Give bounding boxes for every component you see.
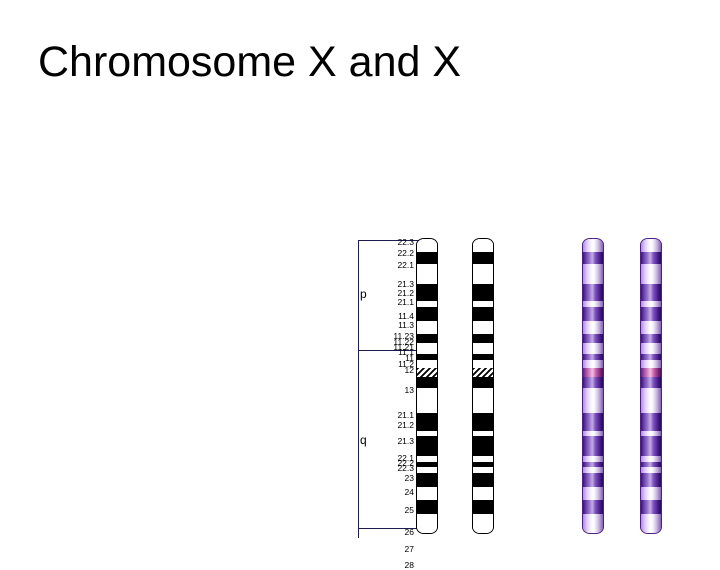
chromosome-band bbox=[583, 473, 603, 487]
chromosome-band bbox=[583, 436, 603, 456]
chromosome-band bbox=[641, 436, 661, 456]
band-label: 21.2 bbox=[397, 421, 414, 430]
band-label: 11.3 bbox=[398, 321, 414, 330]
chromosome-band bbox=[473, 500, 493, 514]
band-label: 22.3 bbox=[397, 238, 414, 247]
chromosome-band bbox=[583, 264, 603, 284]
chromosome-x-1-body bbox=[416, 238, 438, 534]
chromosome-band bbox=[583, 368, 603, 377]
chromosome-band bbox=[641, 252, 661, 264]
chromosome-band bbox=[583, 360, 603, 368]
chromosome-band bbox=[473, 514, 493, 534]
chromosome-band bbox=[417, 307, 437, 321]
chromosome-band bbox=[641, 307, 661, 321]
band-label: 21.3 bbox=[397, 437, 414, 446]
chromosome-band bbox=[583, 487, 603, 500]
band-label: 25 bbox=[405, 506, 414, 515]
band-label: 22.3 bbox=[397, 464, 414, 473]
chromosome-band bbox=[473, 264, 493, 284]
chromosome-band bbox=[473, 377, 493, 389]
chromosome-band bbox=[417, 377, 437, 389]
chromosome-band bbox=[417, 321, 437, 334]
chromosome-band bbox=[417, 473, 437, 487]
chromosome-band bbox=[417, 252, 437, 264]
band-label: 24 bbox=[405, 488, 414, 497]
chromosome-band bbox=[641, 514, 661, 534]
chromosome-band bbox=[473, 334, 493, 343]
band-label: 26 bbox=[405, 528, 414, 537]
band-label: 12 bbox=[405, 366, 414, 375]
chromosome-band bbox=[417, 487, 437, 500]
chromosome-band bbox=[641, 343, 661, 354]
chromosome-band bbox=[583, 514, 603, 534]
chromosome-band bbox=[417, 264, 437, 284]
chromosome-band bbox=[641, 368, 661, 377]
chromosome-band bbox=[417, 388, 437, 413]
chromosome-band bbox=[641, 487, 661, 500]
chromosome-band bbox=[641, 321, 661, 334]
chromosome-band bbox=[417, 334, 437, 343]
band-label-column: 22.322.222.121.321.221.111.411.311.2311.… bbox=[350, 230, 414, 540]
chromosome-band bbox=[641, 360, 661, 368]
band-label: 23 bbox=[405, 474, 414, 483]
chromosome-band bbox=[583, 284, 603, 301]
chromosome-band bbox=[417, 413, 437, 431]
chromosome-band bbox=[473, 252, 493, 264]
chromosome-band bbox=[417, 239, 437, 252]
chromosome-band bbox=[473, 436, 493, 456]
chromosome-x-3[interactable] bbox=[582, 238, 604, 534]
chromosome-band bbox=[417, 514, 437, 534]
band-label: 13 bbox=[405, 386, 414, 395]
chromosome-band bbox=[583, 500, 603, 514]
chromosome-band bbox=[473, 321, 493, 334]
chromosome-band bbox=[641, 377, 661, 389]
chromosome-band bbox=[473, 368, 493, 377]
chromosome-x-4-body bbox=[640, 238, 662, 534]
chromosome-band bbox=[473, 388, 493, 413]
chromosome-band bbox=[473, 487, 493, 500]
chromosome-x-3-body bbox=[582, 238, 604, 534]
karyotype-figure: p q 22.322.222.121.321.221.111.411.311.2… bbox=[350, 230, 696, 540]
chromosome-band bbox=[641, 473, 661, 487]
chromosome-band bbox=[473, 307, 493, 321]
chromosome-band bbox=[641, 334, 661, 343]
band-label: 21.1 bbox=[397, 411, 414, 420]
chromosome-x-1[interactable] bbox=[416, 238, 438, 534]
chromosome-band bbox=[417, 284, 437, 301]
chromosome-band bbox=[583, 307, 603, 321]
chromosome-band bbox=[641, 284, 661, 301]
chromosome-band bbox=[641, 413, 661, 431]
chromosome-band bbox=[417, 436, 437, 456]
chromosome-band bbox=[417, 500, 437, 514]
chromosome-band bbox=[641, 388, 661, 413]
chromosome-band bbox=[583, 388, 603, 413]
chromosome-band bbox=[473, 473, 493, 487]
chromosome-band bbox=[583, 377, 603, 389]
chromosome-x-4[interactable] bbox=[640, 238, 662, 534]
chromosome-band bbox=[473, 360, 493, 368]
band-label: 22.2 bbox=[397, 249, 414, 258]
chromosome-band bbox=[473, 413, 493, 431]
chromosome-band bbox=[583, 321, 603, 334]
chromosome-x-2-body bbox=[472, 238, 494, 534]
band-label: 28 bbox=[405, 561, 414, 570]
chromosome-band bbox=[641, 264, 661, 284]
chromosome-band bbox=[417, 368, 437, 377]
chromosome-band bbox=[641, 239, 661, 252]
page-title: Chromosome X and X bbox=[38, 40, 461, 85]
chromosome-band bbox=[583, 413, 603, 431]
chromosome-band bbox=[473, 284, 493, 301]
chromosome-band bbox=[417, 360, 437, 368]
chromosome-band bbox=[417, 343, 437, 354]
chromosome-band bbox=[583, 252, 603, 264]
chromosome-band bbox=[583, 239, 603, 252]
chromosome-band bbox=[583, 343, 603, 354]
chromosome-band bbox=[641, 500, 661, 514]
chromosome-band bbox=[473, 239, 493, 252]
chromosome-x-2[interactable] bbox=[472, 238, 494, 534]
chromosome-band bbox=[473, 343, 493, 354]
chromosome-band bbox=[583, 334, 603, 343]
band-label: 22.1 bbox=[397, 261, 414, 270]
band-label: 21.1 bbox=[397, 298, 414, 307]
band-label: 27 bbox=[405, 545, 414, 554]
